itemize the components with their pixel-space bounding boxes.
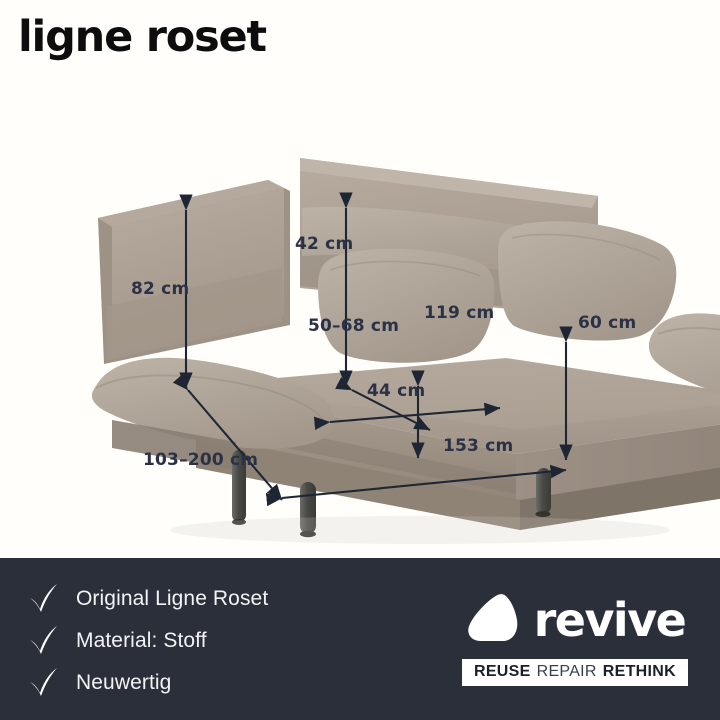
feature-label: Original Ligne Roset xyxy=(76,588,268,609)
dimension-label-arm-height: 60 cm xyxy=(578,313,636,333)
list-item: Neuwertig xyxy=(28,666,268,699)
check-icon xyxy=(28,625,58,655)
dimension-label-seat-height: 44 cm xyxy=(367,381,425,401)
dimension-label-total-width: 153 cm xyxy=(443,436,513,456)
product-image-card: ligne roset xyxy=(0,0,720,720)
badge-word-rethink: RETHINK xyxy=(603,664,676,680)
dimension-label-height: 82 cm xyxy=(131,279,189,299)
dimension-label-backrest: 42 cm xyxy=(295,234,353,254)
feature-list: Original Ligne Roset Material: Stoff Neu… xyxy=(28,582,268,699)
revive-logo: revive REUSE REPAIR RETHINK xyxy=(462,592,688,686)
badge-word-reuse: REUSE xyxy=(474,664,531,680)
dimension-label-seat-width: 119 cm xyxy=(424,303,494,323)
feature-label: Material: Stoff xyxy=(76,630,207,651)
footer-bar: Original Ligne Roset Material: Stoff Neu… xyxy=(0,558,720,720)
brand-logo: ligne roset xyxy=(18,16,266,59)
list-item: Material: Stoff xyxy=(28,624,268,657)
feature-label: Neuwertig xyxy=(76,672,171,693)
check-icon xyxy=(28,583,58,613)
list-item: Original Ligne Roset xyxy=(28,582,268,615)
dimension-label-seat-depth: 50–68 cm xyxy=(308,316,399,336)
revive-tagline-badge: REUSE REPAIR RETHINK xyxy=(462,659,688,686)
revive-wordmark: revive xyxy=(534,597,686,643)
leaf-icon xyxy=(465,592,521,648)
badge-word-repair: REPAIR xyxy=(537,664,597,680)
dimension-label-total-depth: 103–200 cm xyxy=(143,450,258,470)
check-icon xyxy=(28,667,58,697)
